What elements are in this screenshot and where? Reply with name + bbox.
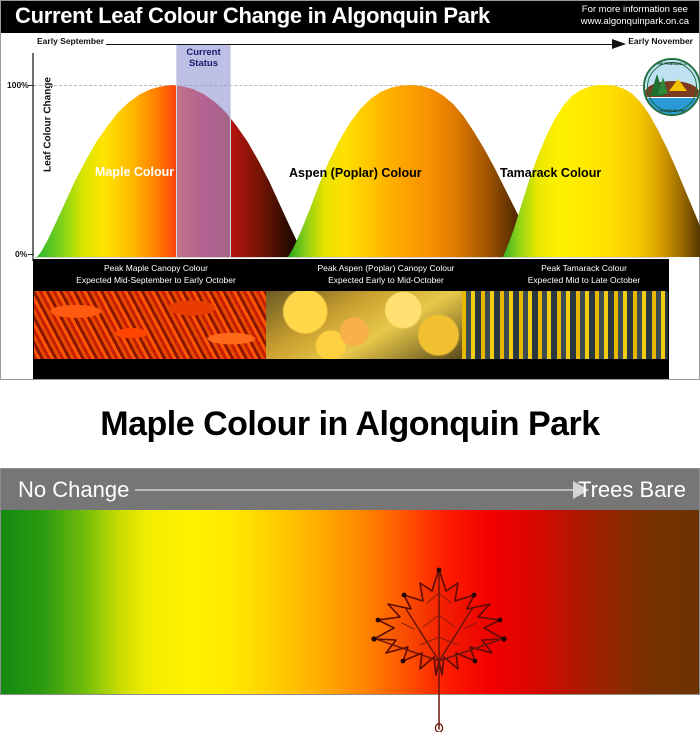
caption-aspen-line-2: Expected Early to Mid-October <box>328 275 444 285</box>
timeline-start-label: Early September <box>37 36 104 46</box>
chart-header-bar: Current Leaf Colour Change in Algonquin … <box>1 1 699 33</box>
maple-leaf-marker-icon <box>354 557 524 732</box>
logo-ring <box>647 62 697 112</box>
y-axis-tick-0: 0% <box>15 249 27 259</box>
scale-left-label: No Change <box>18 477 129 503</box>
caption-aspen: Peak Aspen (Poplar) Canopy Colour Expect… <box>281 263 491 286</box>
plot-area <box>33 57 669 257</box>
plot-baseline <box>33 257 669 258</box>
caption-maple-line-2: Expected Mid-September to Early October <box>76 275 236 285</box>
scale-right-label: Trees Bare <box>578 477 686 503</box>
caption-tamarack-line-1: Peak Tamarack Colour <box>541 263 627 273</box>
maple-colour-title: Maple Colour in Algonquin Park <box>0 405 700 444</box>
timeline-end-label: Early November <box>628 36 693 46</box>
website-url[interactable]: www.algonquinpark.on.ca <box>581 16 689 28</box>
colour-gradient-bar <box>1 510 699 694</box>
caption-aspen-line-1: Peak Aspen (Poplar) Canopy Colour <box>317 263 454 273</box>
friends-of-algonquin-park-logo: THE FRIENDS OF ALGONQUIN PARK <box>643 58 700 116</box>
caption-photo-band: Peak Maple Canopy Colour Expected Mid-Se… <box>33 259 669 379</box>
page-title: Current Leaf Colour Change in Algonquin … <box>15 3 490 29</box>
photo-aspen-yellow-leaves <box>266 291 462 359</box>
right-arrow-icon <box>612 39 626 49</box>
maple-colour-scale: No Change Trees Bare <box>0 468 700 695</box>
info-line-1: For more information see <box>581 4 689 16</box>
curve-label-maple: Maple Colour <box>95 165 174 179</box>
caption-maple: Peak Maple Canopy Colour Expected Mid-Se… <box>41 263 271 286</box>
page-root: Current Leaf Colour Change in Algonquin … <box>0 0 700 695</box>
more-information-block: For more information see www.algonquinpa… <box>581 4 689 28</box>
timeline-axis: Early September Early November <box>1 35 699 53</box>
caption-tamarack-line-2: Expected Mid to Late October <box>528 275 640 285</box>
curve-label-aspen: Aspen (Poplar) Colour <box>289 166 422 180</box>
caption-maple-line-1: Peak Maple Canopy Colour <box>104 263 208 273</box>
logo-text-top: THE FRIENDS OF <box>645 61 699 66</box>
logo-text-bottom: ALGONQUIN PARK <box>645 108 699 113</box>
photo-strip <box>34 291 668 359</box>
scale-header-bar: No Change Trees Bare <box>1 469 699 510</box>
leaf-colour-chart-panel: Current Leaf Colour Change in Algonquin … <box>0 0 700 380</box>
scale-arrow-line <box>135 489 580 491</box>
curve-label-tamarack: Tamarack Colour <box>500 166 601 180</box>
y-axis-tick-100: 100% <box>7 80 29 90</box>
current-status-line-1: Current <box>186 47 220 58</box>
photo-maple-red-foliage <box>34 291 266 359</box>
photo-tamarack-yellow-forest <box>462 291 668 359</box>
current-status-label: Current Status <box>177 47 230 69</box>
current-status-band: Current Status <box>176 45 231 257</box>
current-status-line-2: Status <box>189 58 218 69</box>
caption-tamarack: Peak Tamarack Colour Expected Mid to Lat… <box>501 263 667 286</box>
